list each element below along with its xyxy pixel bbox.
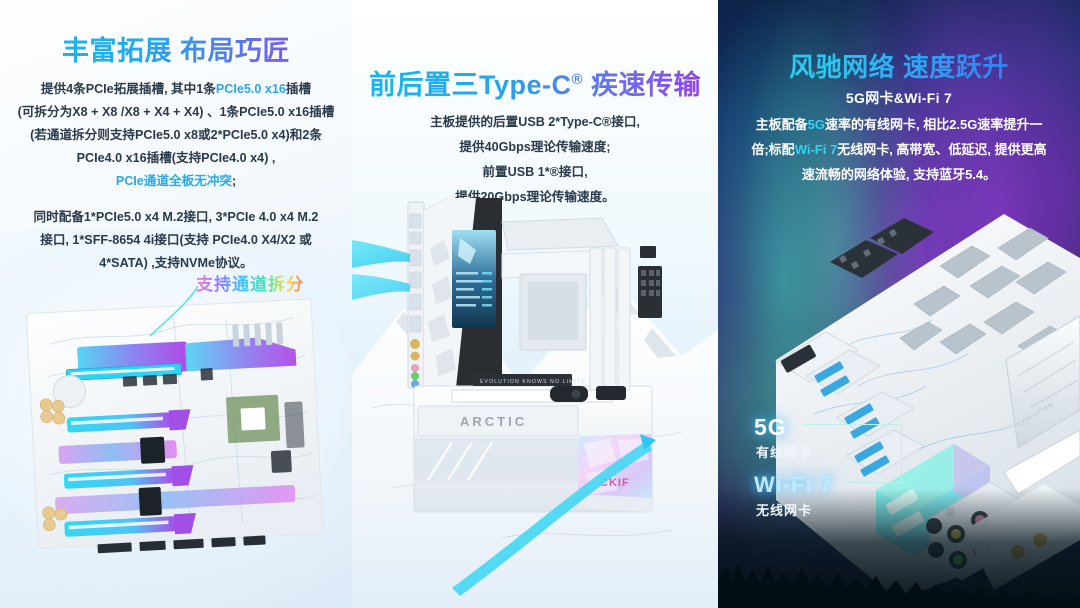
body-line: (可拆分为X8 + X8 /X8 + X4 + X4) 、1条PCIe5.0 x…: [14, 101, 338, 124]
body-line: 前置USB 1*®接口,: [376, 160, 694, 185]
callout-wifi-subtitle: 无线网卡: [756, 500, 812, 519]
highlighted-term: PCIe5.0 x16: [216, 82, 286, 96]
body-line: 同时配备1*PCIe5.0 x4 M.2接口, 3*PCIe 4.0 x4 M.…: [14, 206, 338, 229]
body-text-segment: PCIe4.0 x16插槽(支持PCIe4.0 x4) ,: [77, 151, 276, 165]
callout-wifi-title: Wi-Fi 7: [754, 472, 833, 498]
callout-5g-title: 5G: [754, 414, 787, 441]
body-line: PCIe通道全板无冲突;: [14, 170, 338, 193]
body-text-segment: 插槽: [286, 82, 311, 96]
body-text-segment: (可拆分为X8 + X8 /X8 + X4 + X4) 、1条PCIe5.0 x…: [18, 105, 335, 119]
panel1-callout-label: 支持通道拆分: [196, 270, 304, 295]
body-text-segment: 速率的有线网卡, 相比2.5G速率提升一: [825, 117, 1042, 132]
panel2-motherboard-image: EVOLUTION KNOWS NO LIMITS ARCTIC: [352, 188, 718, 608]
callout-leader-line-5g: [804, 424, 902, 425]
callout-leader-line-vertical: [901, 424, 902, 483]
svg-text:EVOLUTION KNOWS NO LIMITS: EVOLUTION KNOWS NO LIMITS: [480, 379, 586, 385]
body-line: 提供4条PCIe拓展插槽, 其中1条PCIe5.0 x16插槽: [14, 78, 338, 101]
body-text-segment: 无线网卡, 高带宽、低延迟, 提供更高: [837, 142, 1046, 157]
panel1-heading: 丰富拓展 布局巧匠: [0, 32, 352, 70]
body-line: 接口, 1*SFF-8654 4i接口(支持 PCIe4.0 X4/X2 或: [14, 229, 338, 252]
panel3-body-text: 主板配备5G速率的有线网卡, 相比2.5G速率提升一倍;标配Wi-Fi 7无线网…: [718, 112, 1080, 187]
panel1-body-text: 提供4条PCIe拓展插槽, 其中1条PCIe5.0 x16插槽(可拆分为X8 +…: [0, 78, 352, 275]
callout-5g-subtitle: 有线网卡: [756, 442, 812, 461]
panel1-motherboard-image: [0, 278, 352, 608]
highlighted-term: 5G: [808, 117, 825, 132]
registered-icon: ®: [571, 71, 583, 88]
body-text-segment: 提供4条PCIe拓展插槽, 其中1条: [41, 82, 216, 96]
body-line: PCIe4.0 x16插槽(支持PCIe4.0 x4) ,: [14, 147, 338, 170]
body-text-segment: ;: [232, 174, 236, 188]
body-line: 提供40Gbps理论传输速度;: [376, 135, 694, 160]
panel3-subheading: 5G网卡&Wi-Fi 7: [718, 88, 1080, 108]
body-line: (若通道拆分则支持PCIe5.0 x8或2*PCIe5.0 x4)和2条: [14, 124, 338, 147]
body-text-segment: 同时配备1*PCIe5.0 x4 M.2接口, 3*PCIe 4.0 x4 M.…: [34, 210, 319, 224]
body-line: 主板提供的后置USB 2*Type-C®接口,: [376, 110, 694, 135]
body-line: 倍;标配Wi-Fi 7无线网卡, 高带宽、低延迟, 提供更高: [736, 137, 1062, 162]
body-text-segment: (若通道拆分则支持PCIe5.0 x8或2*PCIe5.0 x4)和2条: [30, 128, 322, 142]
body-text-segment: 接口, 1*SFF-8654 4i接口(支持 PCIe4.0 X4/X2 或: [40, 233, 312, 247]
body-text-segment: 主板配备: [756, 117, 808, 132]
panel3-tree-line-icon: [718, 538, 1080, 608]
callout-leader-line-wifi: [846, 482, 902, 483]
panel-expansion: 丰富拓展 布局巧匠 提供4条PCIe拓展插槽, 其中1条PCIe5.0 x16插…: [0, 0, 352, 608]
panel2-heading-post: 疾速传输: [583, 70, 701, 100]
body-text-segment: 速流畅的网络体验, 支持蓝牙5.4。: [802, 167, 996, 182]
panel2-heading: 前后置三Type-C® 疾速传输: [352, 61, 718, 104]
highlighted-term: PCIe通道全板无冲突: [116, 174, 232, 188]
paragraph-gap: [14, 193, 338, 206]
panel3-heading: 风驰网络 速度跃升: [718, 48, 1080, 86]
panel2-heading-pre: 前后置三Type-C: [369, 70, 572, 100]
body-text-segment: 倍;标配: [751, 142, 794, 157]
panel-network: 风驰网络 速度跃升 5G网卡&Wi-Fi 7 主板配备5G速率的有线网卡, 相比…: [718, 0, 1080, 608]
panel-typec: 前后置三Type-C® 疾速传输 主板提供的后置USB 2*Type-C®接口,…: [352, 0, 718, 608]
svg-text:ARCTIC: ARCTIC: [460, 414, 527, 429]
body-text-segment: 4*SATA) ,支持NVMe协议。: [99, 256, 252, 270]
product-feature-banner: 丰富拓展 布局巧匠 提供4条PCIe拓展插槽, 其中1条PCIe5.0 x16插…: [0, 0, 1080, 608]
highlighted-term: Wi-Fi 7: [795, 142, 838, 157]
body-line: 速流畅的网络体验, 支持蓝牙5.4。: [736, 162, 1062, 187]
body-line: 主板配备5G速率的有线网卡, 相比2.5G速率提升一: [736, 112, 1062, 137]
